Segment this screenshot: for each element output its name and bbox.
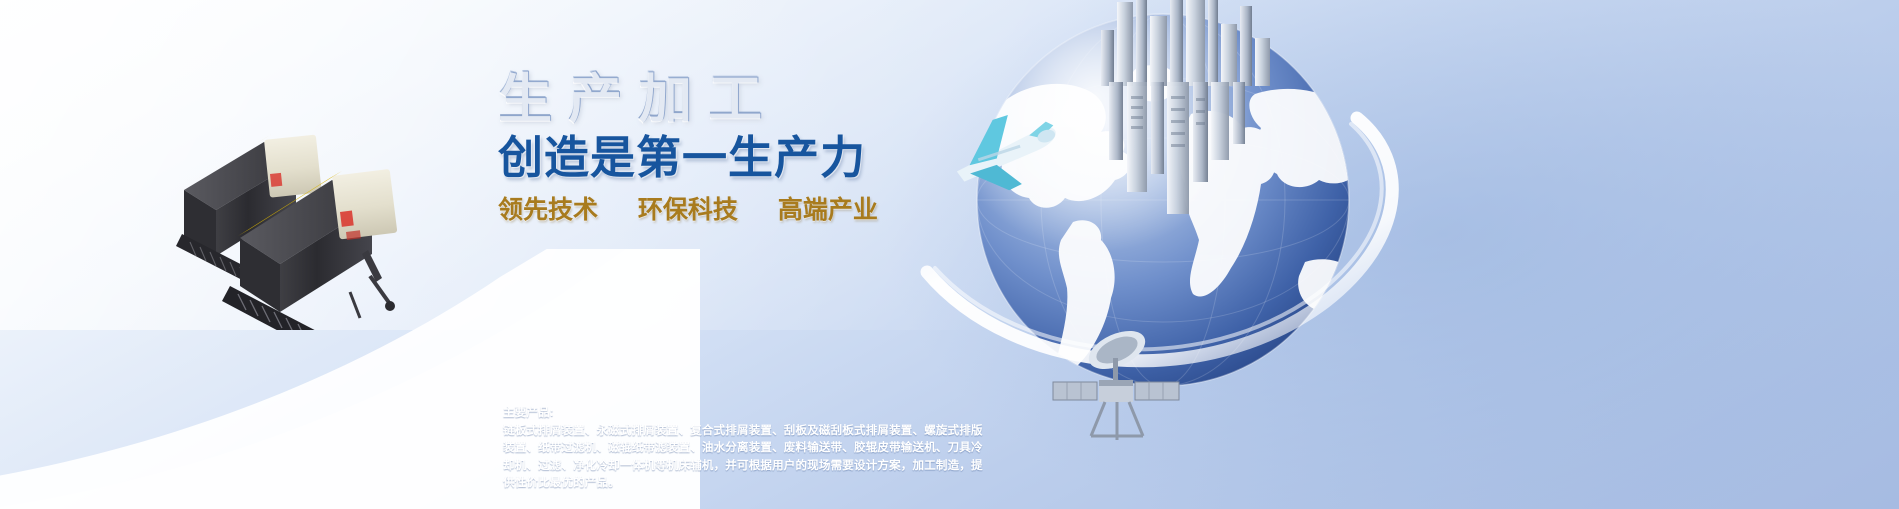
product-description-label: 主要产品: <box>503 405 941 423</box>
product-description-line: 链板式排屑装置、永磁式排屑装置、复合式排屑装置、刮板及磁刮板式排屑装置、螺旋式排… <box>503 423 941 441</box>
tagline-part-3: 高端产业 <box>778 196 878 224</box>
tagline: 领先技术 环保科技 高端产业 <box>498 195 968 225</box>
product-description: 主要产品: 链板式排屑装置、永磁式排屑装置、复合式排屑装置、刮板及磁刮板式排屑装… <box>503 405 941 493</box>
globe-graphic <box>905 0 1425 509</box>
headline-top: 生产加工 <box>498 70 968 127</box>
chip-conveyor-machines-graphic <box>150 120 510 330</box>
product-description-line: 装置、纸带过滤机、磁辊纸带滤装置、油水分离装置、废料输送带、胶辊皮带输送机、刀具… <box>503 440 941 458</box>
tagline-part-2: 环保科技 <box>638 196 738 224</box>
promo-banner: 生产加工 创造是第一生产力 领先技术 环保科技 高端产业 主要产品: 链板式排屑… <box>0 0 1899 509</box>
headline-group: 生产加工 创造是第一生产力 领先技术 环保科技 高端产业 <box>498 70 968 225</box>
headline-main: 创造是第一生产力 <box>498 133 968 183</box>
product-description-line: 供性价比最优的产品。 <box>503 475 941 493</box>
product-description-line: 却机、过滤、净化冷却一体机等机床辅机，并可根据用户的现场需要设计方案，加工制造，… <box>503 458 941 476</box>
tagline-part-1: 领先技术 <box>498 196 598 224</box>
